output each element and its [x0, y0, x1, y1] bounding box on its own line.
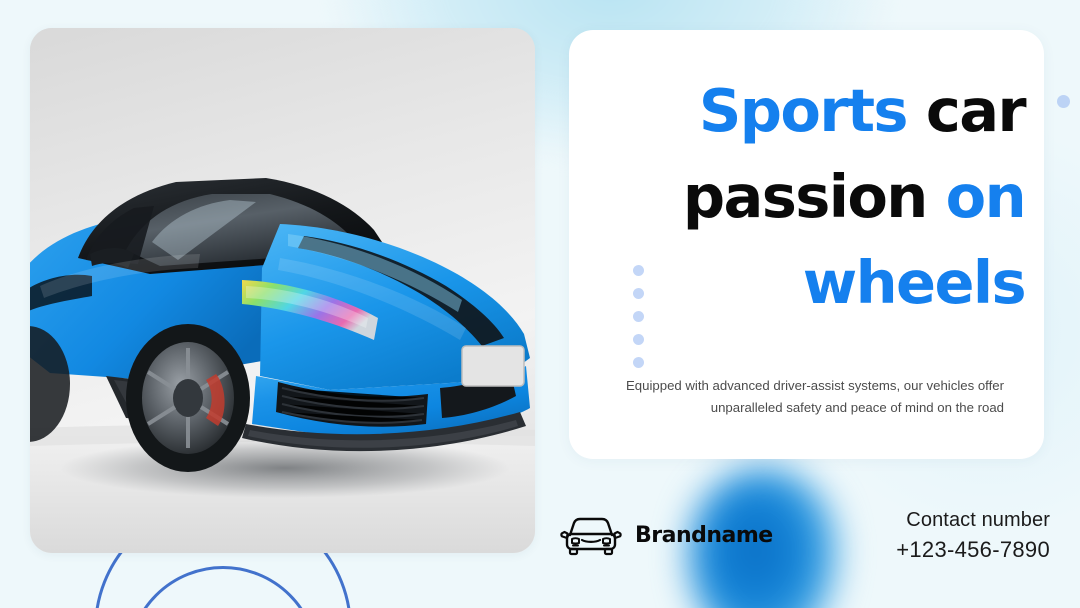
headline-accent-sports: Sports: [699, 76, 907, 145]
decorative-dot-icon: [633, 357, 644, 368]
headline-line-1: Sports car: [589, 68, 1025, 154]
headline-plain-car: car: [926, 76, 1025, 145]
brand-block[interactable]: Brandname: [560, 512, 773, 558]
body-paragraph: Equipped with advanced driver-assist sys…: [619, 375, 1004, 419]
decorative-dot-icon: [633, 311, 644, 322]
page-title: Sports car passion on wheels: [589, 68, 1025, 326]
brand-name-label: Brandname: [635, 523, 773, 548]
hero-car-image: [30, 28, 535, 553]
contact-label: Contact number: [896, 505, 1050, 535]
contact-block[interactable]: Contact number +123-456-7890: [896, 505, 1050, 565]
contact-number[interactable]: +123-456-7890: [896, 535, 1050, 565]
decorative-dot-icon: [633, 265, 644, 276]
headline-line-3: wheels: [589, 240, 1025, 326]
decorative-dot-icon: [633, 288, 644, 299]
decorative-dot-icon: [1057, 95, 1070, 108]
headline-card: Sports car passion on wheels Equipped wi…: [569, 30, 1044, 459]
decorative-dot-column: [633, 265, 646, 380]
car-photo-illustration: [30, 28, 535, 553]
headline-line-2: passion on: [589, 154, 1025, 240]
decorative-dot-icon: [633, 334, 644, 345]
headline-plain-passion: passion: [683, 162, 927, 231]
headline-accent-on: on: [946, 162, 1025, 231]
car-front-icon: [560, 512, 622, 558]
front-wheel: [126, 324, 250, 472]
headline-accent-wheels: wheels: [803, 248, 1025, 317]
